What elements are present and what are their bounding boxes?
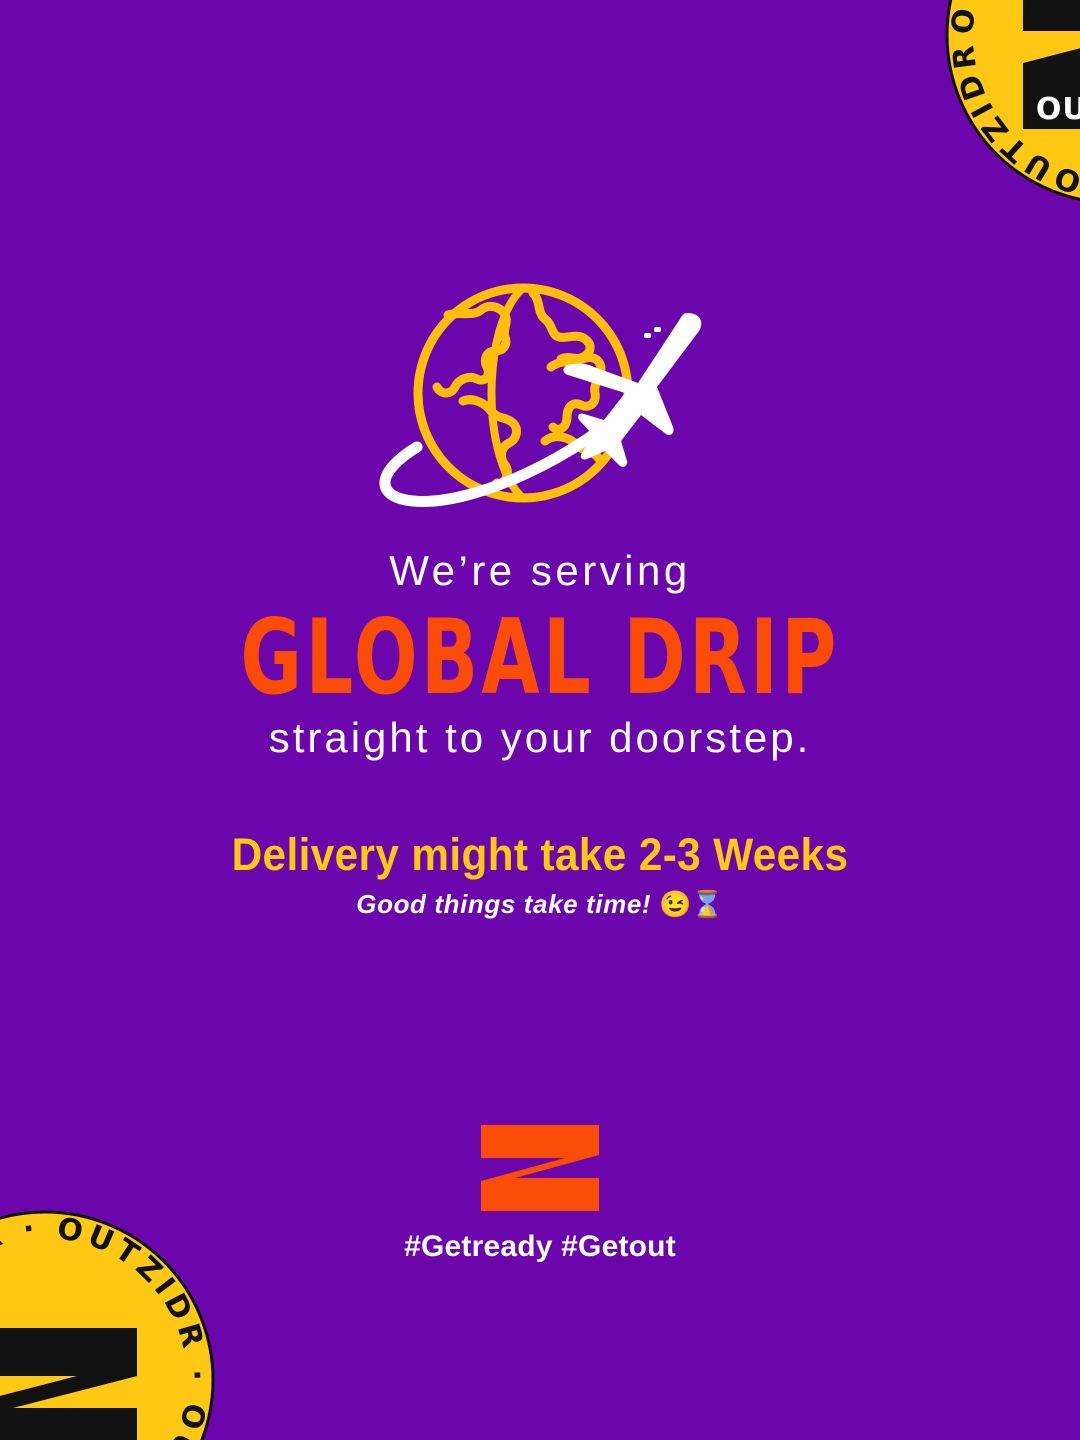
sticker-center-wordmark: OUTZIDR [1036, 92, 1080, 127]
delivery-notice: Delivery might take 2-3 Weeks [32, 830, 1047, 880]
headline-line-2: GLOBAL DRIP [108, 607, 972, 710]
wink-face-icon: 😉 [659, 889, 691, 919]
headline-line-1: We’re serving [0, 548, 1080, 593]
sticker-center-mark: OUTZIDR [1023, 0, 1080, 129]
globe-with-airplane [355, 275, 725, 515]
copy-block: We’re serving GLOBAL DRIP straight to yo… [0, 548, 1080, 920]
outzidr-sticker-top-right: OUTZIDR · OUTZIDR · OUTZIDR · OUTZIDR · … [945, 0, 1080, 205]
headline-line-3: straight to your doorstep. [0, 715, 1080, 761]
delivery-subnote: Good things take time! 😉⌛ [0, 889, 1080, 920]
hashtags-text: #Getready #Getout [0, 1230, 1080, 1264]
promo-poster: OUTZIDR · OUTZIDR · OUTZIDR · OUTZIDR · … [0, 0, 1080, 1440]
delivery-subnote-text: Good things take time! [356, 889, 651, 919]
hourglass-icon: ⌛ [691, 889, 723, 919]
footer-block: #Getready #Getout [0, 1122, 1080, 1264]
globe-icon [418, 288, 628, 498]
z-logo-mark [477, 1122, 603, 1214]
